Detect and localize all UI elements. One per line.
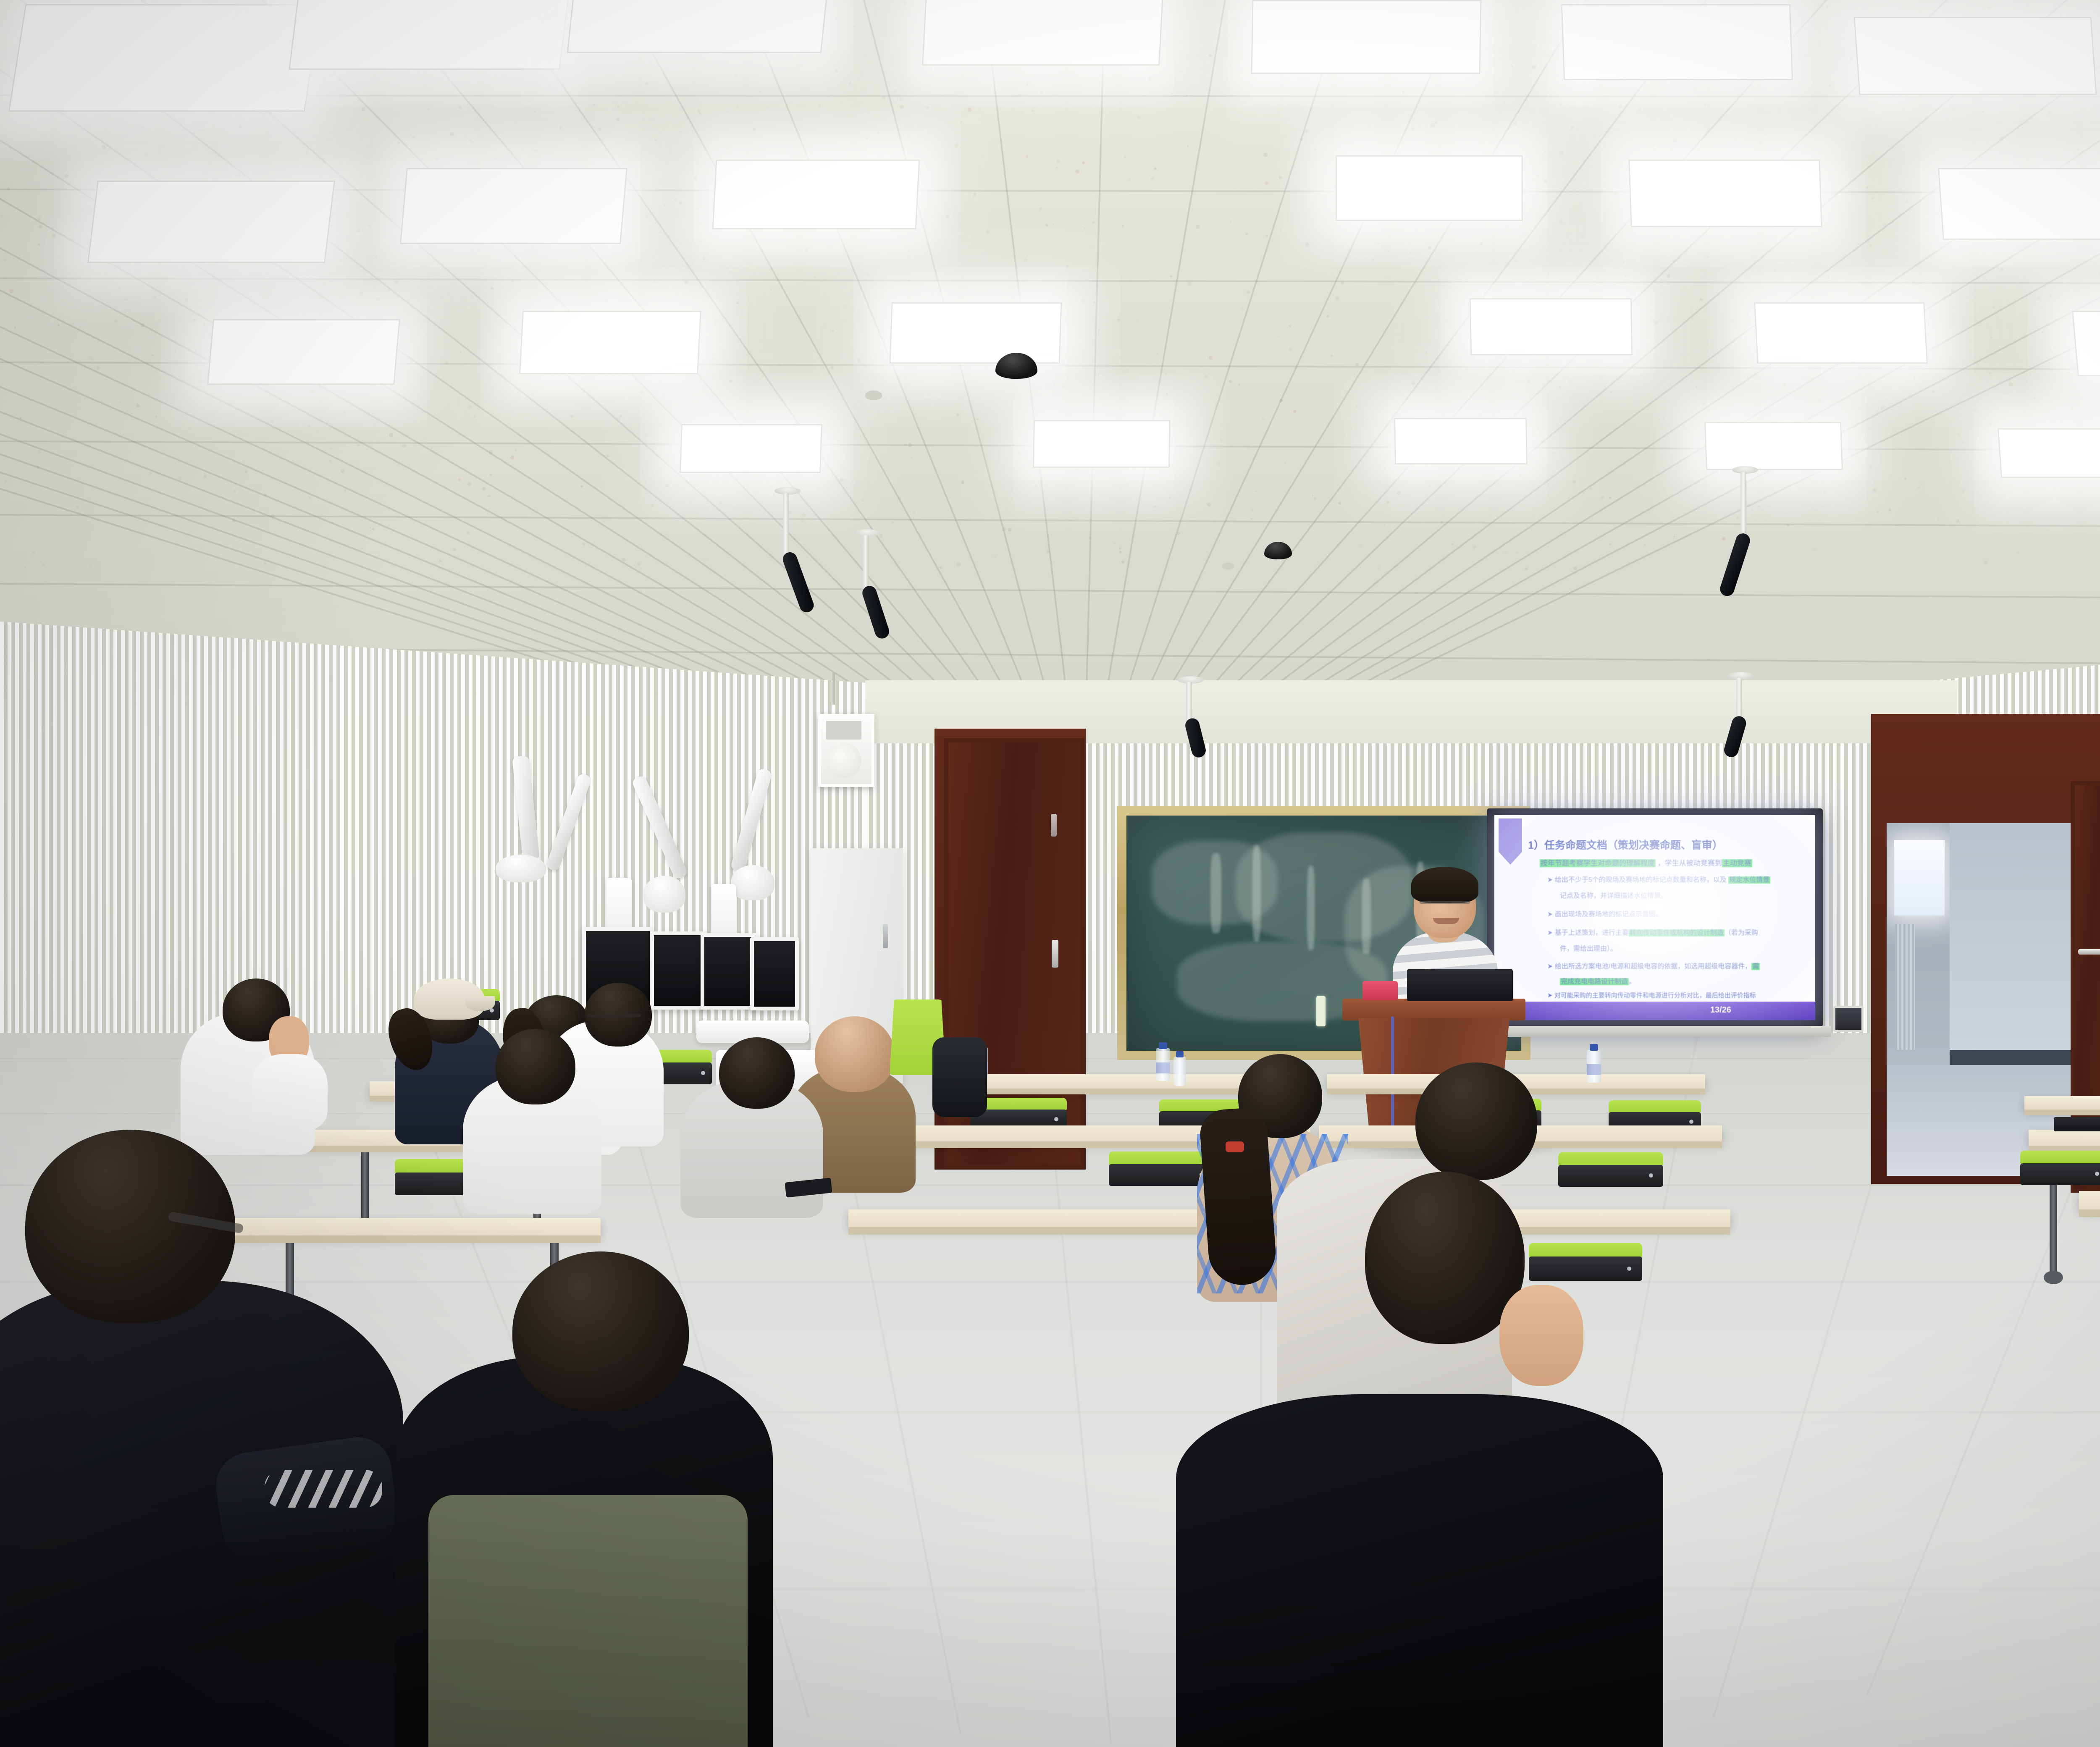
slide-page-indicator: 13/26 [1710,1005,1731,1015]
monitor-3 [701,933,758,1010]
person-trousers [428,1495,748,1747]
monitor-4 [750,937,799,1010]
ceiling-light-panel [1704,422,1843,470]
corridor-wall [1950,823,2091,1058]
person-head [719,1037,795,1109]
ceiling-light-panel [889,302,1062,364]
presentation-slide: 1）任务命题文档（策划决赛命题、盲审） 按年节题考察学生对命题的理解程度 ，学生… [1494,815,1815,1020]
desk-edge [223,1235,601,1243]
person-head-bald [815,1016,895,1092]
floor-grout-line [0,1281,2100,1283]
chair-back[interactable] [1529,1243,1642,1257]
sprinkler-head [1222,563,1234,569]
podium-top [1342,999,1525,1020]
person-forearm [252,1054,328,1130]
person-head [512,1251,689,1411]
sleeve-print-text [265,1470,382,1508]
slide-line-9: ➤ 对可能采购的主要转向传动零件和电源进行分析对比，最后给出评价指标 [1547,991,1756,999]
ceiling-light-panel [680,424,822,473]
person-head [1415,1062,1537,1180]
slide-line-8: 完成充电电路设计制造。 [1560,976,1635,986]
ceiling-light-panel [400,168,627,244]
water-bottle[interactable] [1173,1057,1186,1086]
ceiling-light-panel [922,0,1164,66]
ceiling-light-panel [1853,17,2097,95]
slide-footer-bar: 13/26 [1494,1002,1815,1020]
slide-line-2: ➤ 给出不少于5个的现场及赛场地的标记点数量和名称，以及 规定水位情景 [1547,874,1770,884]
slide-line-6: 件，需给出理由）。 [1560,943,1617,953]
slide-title: 1）任务命题文档（策划决赛命题、盲审） [1528,837,1723,852]
slide-chevron-icon [1499,818,1522,865]
water-bottle[interactable] [1156,1048,1170,1081]
ceiling-light-panel [1938,168,2100,240]
person-hand-on-chin [1499,1285,1583,1386]
microphone-rod [1740,472,1746,537]
chair-back[interactable] [2020,1151,2100,1164]
desk [2029,1130,2100,1146]
ceiling-light-panel [289,0,570,70]
red-box-on-podium[interactable] [1362,981,1398,1000]
equipment-head-3 [731,865,774,900]
projection-screen-frame: 1）任务命题文档（策划决赛命题、盲审） 按年节题考察学生对命题的理解程度 ，学生… [1487,808,1823,1027]
desk-edge [2079,1209,2100,1217]
ceiling [0,0,2100,739]
presenter-laptop[interactable] [1407,969,1513,1001]
desk-caster [2044,1271,2063,1284]
person-head [496,1029,575,1104]
corridor-radiator [1895,924,1915,1050]
desk [223,1218,601,1235]
speaker-wire-left [832,672,835,705]
ceiling-light-panel [87,181,335,263]
laptop-on-desk[interactable] [2054,1117,2100,1131]
long-ponytail [1199,1107,1278,1287]
cabinet-handle-icon[interactable] [883,924,888,948]
sprinkler-head [865,391,882,400]
ceiling-light-panel [1470,298,1633,355]
screen-bottom-rail [1478,1026,1831,1037]
ceiling-light-panel [8,4,322,112]
water-bottle[interactable] [1587,1050,1601,1083]
chalk-piece [1316,996,1326,1026]
slide-line-3: 记点及名称，并详细描述水位情景。 [1560,890,1667,900]
microphone-rod [783,493,789,556]
person-body [1176,1394,1663,1747]
ceiling-light-panel [1251,0,1481,74]
monitor-2 [650,931,707,1010]
equipment-head-1 [496,855,546,882]
wall-speaker-left [818,714,874,787]
ceiling-light-panel [1033,420,1171,468]
backpack[interactable] [932,1037,987,1117]
microphone-rod [863,535,869,590]
ceiling-light-panel [1561,4,1793,80]
ceiling-light-panel [1998,428,2100,478]
person-glasses-icon [587,1014,641,1017]
ceiling-light-panel [207,319,400,385]
slide-line-4: ➤ 画出现场及赛场地的标记点示意图。 [1547,908,1662,918]
desk [2079,1191,2100,1209]
desk [2024,1096,2100,1110]
chair-seat[interactable] [1529,1256,1642,1281]
hair-tie [1226,1141,1244,1152]
chair-back[interactable] [1609,1100,1701,1113]
corridor-baseboard [1950,1050,2091,1065]
equipment-head-2 [643,876,685,913]
chair-back[interactable] [1558,1152,1663,1166]
corridor-window [1894,840,1945,915]
classroom-photo: 1）任务命题文档（策划决赛命题、盲审） 按年节题考察学生对命题的理解程度 ，学生… [0,0,2100,1747]
presenter-smile [1433,918,1459,924]
slide-line-5: ➤ 基于上述策划，进行主要转向传动零件或机构的设计制造（若为采购 [1547,927,1758,937]
chair-seat[interactable] [1558,1165,1663,1187]
slide-line-1: 按年节题考察学生对命题的理解程度 ，学生从被动竞赛到主动竞赛 [1540,857,1752,868]
door-handle-icon[interactable] [2078,949,2100,955]
cap-brim-icon [465,996,495,1011]
presenter-glasses-icon [1420,901,1470,904]
ceiling-light-panel [1754,302,1928,364]
floor-grout-line [0,1184,2100,1186]
door-handle-icon[interactable] [1052,940,1058,968]
door-plate-icon [1051,814,1057,837]
chair-seat[interactable] [2020,1163,2100,1185]
ceiling-light-panel [712,160,920,229]
microphone-rod [1736,678,1742,720]
ceiling-light-panel [1336,155,1523,221]
desk-edge [2024,1110,2100,1115]
ceiling-light-panel [1628,160,1822,227]
ceiling-light-panel [567,0,830,53]
ceiling-light-panel [519,311,701,374]
ceiling-light-panel [1394,418,1528,464]
wall-control-panel[interactable] [1833,1006,1864,1032]
slide-line-7: ➤ 给出所选方案电池/电源和超级电容的依据，如选用超级电容器件，需 [1547,960,1760,971]
microphone-rod [1186,682,1192,722]
presenter-hair [1411,867,1478,903]
